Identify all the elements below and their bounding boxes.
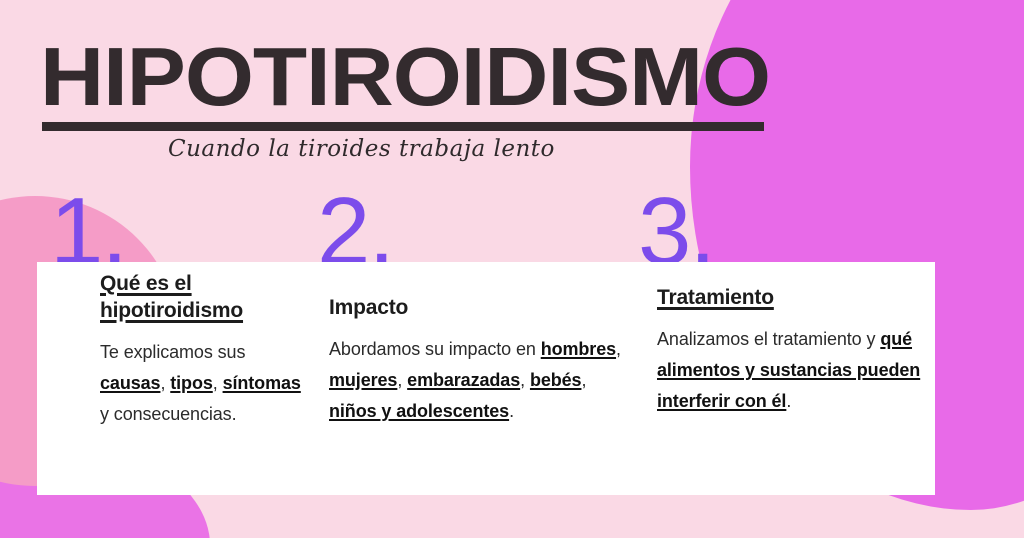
body-text-run: ,	[213, 373, 223, 393]
page-subtitle: Cuando la tiroides trabaja lento	[168, 134, 555, 164]
column-3-heading: Tratamiento	[657, 284, 929, 311]
body-text-run: .	[509, 401, 514, 421]
column-2-heading: Impacto	[329, 294, 635, 321]
content-column-3: Tratamiento Analizamos el tratamiento y …	[649, 262, 935, 495]
title-underline-rule	[42, 122, 764, 131]
column-3-body: Analizamos el tratamiento y qué alimento…	[657, 324, 929, 417]
body-text-run: Te explicamos sus	[100, 342, 245, 362]
emphasized-term: embarazadas	[407, 370, 520, 390]
content-columns: Qué es el hipotiroidismo Te explicamos s…	[37, 262, 935, 495]
content-card: Qué es el hipotiroidismo Te explicamos s…	[37, 262, 935, 495]
emphasized-term: síntomas	[223, 373, 301, 393]
column-2-body: Abordamos su impacto en hombres, mujeres…	[329, 334, 635, 427]
emphasized-term: causas	[100, 373, 160, 393]
body-text-run: Abordamos su impacto en	[329, 339, 541, 359]
body-text-run: Analizamos el tratamiento y	[657, 329, 880, 349]
body-text-run: .	[786, 391, 791, 411]
column-1-heading: Qué es el hipotiroidismo	[100, 270, 301, 324]
column-1-body: Te explicamos sus causas, tipos, síntoma…	[100, 337, 301, 430]
body-text-run: ,	[616, 339, 621, 359]
emphasized-term: mujeres	[329, 370, 397, 390]
body-text-run: ,	[160, 373, 170, 393]
content-column-2: Impacto Abordamos su impacto en hombres,…	[319, 262, 649, 495]
body-text-run: ,	[520, 370, 530, 390]
content-column-1: Qué es el hipotiroidismo Te explicamos s…	[37, 262, 319, 495]
emphasized-term: bebés	[530, 370, 582, 390]
body-text-run: ,	[581, 370, 586, 390]
page-title: HIPOTIROIDISMO	[40, 34, 770, 120]
body-text-run: y consecuencias.	[100, 404, 236, 424]
infographic-poster: HIPOTIROIDISMO Cuando la tiroides trabaj…	[0, 0, 1024, 538]
emphasized-term: hombres	[541, 339, 616, 359]
body-text-run: ,	[397, 370, 407, 390]
emphasized-term: niños y adolescentes	[329, 401, 509, 421]
emphasized-term: tipos	[170, 373, 213, 393]
